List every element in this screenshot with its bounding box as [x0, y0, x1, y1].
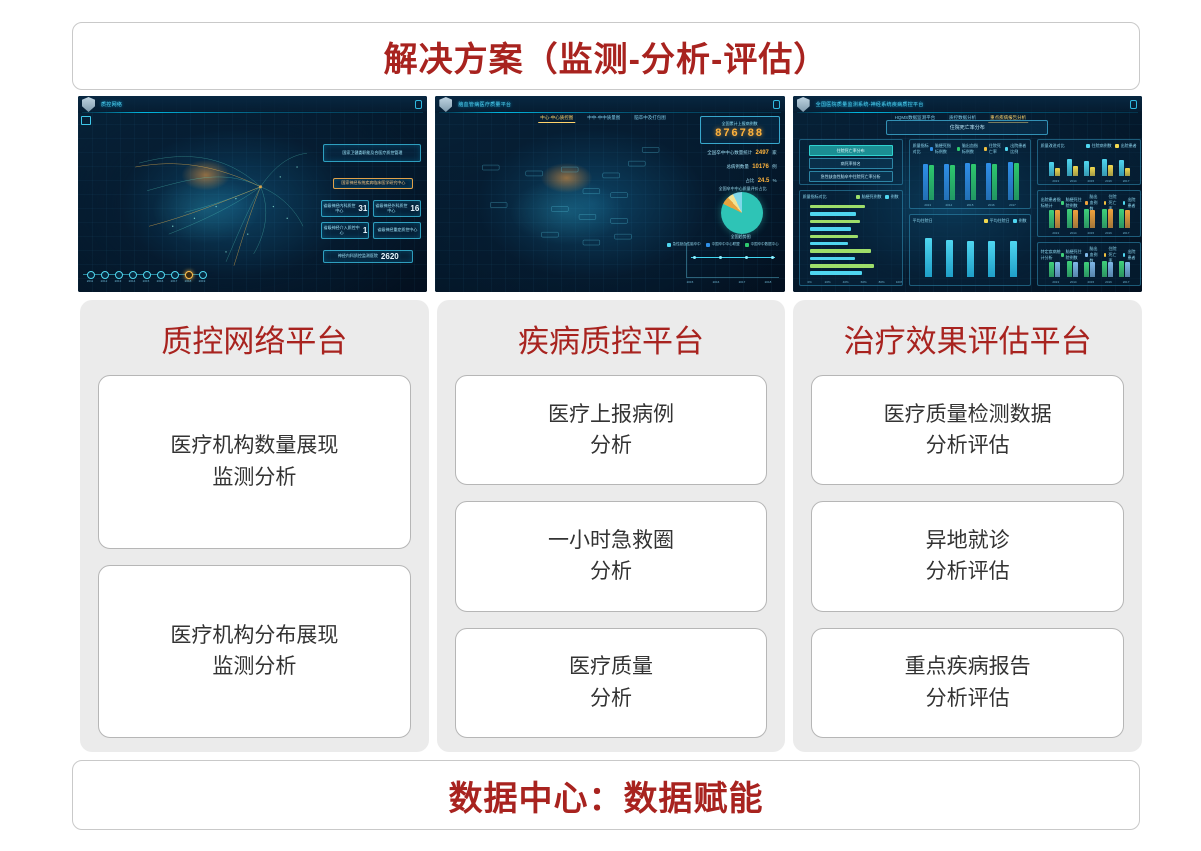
stat-value: 24.5	[758, 178, 770, 184]
card-text: 医疗机构数量展现监测分析	[170, 430, 338, 493]
dashboard-treatment-evaluation[interactable]: 全国医院质量监测系统-神经系统疾病质控平台 HQMS数据监测平台质控数据分析重点…	[793, 96, 1142, 292]
bar-group	[1049, 154, 1060, 176]
shield-logo-icon	[797, 97, 810, 112]
axis-tick-label: 60%	[861, 280, 867, 284]
axis-tick-label: 2017	[1123, 179, 1130, 183]
stat-label: 总病例数量	[726, 164, 749, 169]
topbar-rule	[797, 112, 1138, 113]
horizontal-bar	[810, 227, 852, 231]
bar-group	[1102, 257, 1113, 277]
horizontal-bar	[810, 242, 848, 246]
bar	[1084, 161, 1089, 176]
single-bars	[918, 229, 1024, 277]
stat-value: 1	[363, 226, 367, 236]
panel-title-text: 质量指标对比	[803, 194, 827, 200]
horizontal-bar	[810, 271, 862, 275]
platform-column-1: 疾病质控平台医疗上报病例分析一小时急救圈分析医疗质量分析	[437, 300, 786, 752]
axis-tick-label: 100%	[896, 280, 903, 284]
panel-legend: 平均住院日例数	[984, 218, 1027, 224]
bar-group	[988, 229, 995, 277]
axis-tick-label: 2016	[1105, 179, 1112, 183]
horizontal-bar	[810, 249, 871, 253]
card-text: 异地就诊分析评估	[926, 525, 1010, 588]
dashboard-screenshot-strip: 质控网络	[78, 96, 1142, 292]
legend-swatch	[885, 195, 889, 199]
legend-swatch	[1013, 219, 1017, 223]
timeline-point[interactable]	[185, 271, 193, 279]
card-line-2: 分析	[548, 556, 674, 588]
bar-group	[965, 154, 976, 200]
card-text: 医疗质量分析	[569, 651, 653, 714]
panel-legend: 脑梗死例数例数	[856, 194, 899, 200]
card-list: 医疗机构数量展现监测分析医疗机构分布展现监测分析	[98, 375, 411, 738]
timeline-point[interactable]	[171, 271, 179, 279]
grouped-bars	[1046, 205, 1134, 228]
line-series	[691, 257, 775, 258]
axis-tick-label: 2015	[687, 280, 694, 284]
stat-label: 占比	[745, 178, 754, 183]
bar-group	[1119, 154, 1130, 176]
feature-card[interactable]: 一小时急救圈分析	[455, 501, 768, 611]
axis-tick-label: 2016	[1105, 280, 1112, 284]
axis-tick-label: 2018	[765, 280, 772, 284]
panel-title: 质量指标对比 脑梗死例数例数	[803, 194, 899, 200]
card-text: 医疗上报病例分析	[548, 399, 674, 462]
stat-label: 省级神经内科质控中心	[323, 204, 355, 214]
stat-label: 省级神经外科质控中心	[375, 204, 407, 214]
card-line-1: 异地就诊	[926, 525, 1010, 557]
legend-item: 住院病例数	[1086, 143, 1112, 149]
dashboard-title: 全国医院质量监测系统-神经系统疾病质控平台	[816, 101, 924, 108]
bar	[944, 164, 949, 200]
bar	[986, 163, 991, 200]
axis-tick-label: 2014	[1070, 231, 1077, 235]
bar	[923, 164, 928, 200]
bar	[1125, 262, 1130, 277]
timeline-label: 2012	[101, 279, 108, 283]
axis-tick-label: 2015	[967, 203, 974, 207]
stat-label: 全国卒中中心数量统计	[707, 150, 752, 155]
axis-tick-label: 2016	[713, 280, 720, 284]
axis-tick-label: 40%	[843, 280, 849, 284]
stat-panel-2: 省级神经介入质控中心 1	[321, 222, 369, 239]
legend-item: 出院患者	[1115, 143, 1137, 149]
platform-columns: 质控网络平台医疗机构数量展现监测分析医疗机构分布展现监测分析疾病质控平台医疗上报…	[80, 300, 1142, 752]
stat-panel-3: 省级神经重症质控中心	[373, 222, 421, 239]
axis-tick-label: 2015	[1088, 280, 1095, 284]
bar	[1102, 261, 1107, 277]
feature-card[interactable]: 医疗质量检测数据分析评估	[811, 375, 1124, 485]
legend-swatch	[667, 243, 671, 247]
total-cases-value: 876788	[715, 127, 764, 139]
line-point	[719, 256, 722, 259]
timeline-point[interactable]	[115, 271, 123, 279]
card-line-2: 分析评估	[926, 556, 1010, 588]
chart-panel-3: 出院患者指标统计 脑梗死住院例数脑出血例数住院死亡率出院患者 201320142…	[1037, 190, 1141, 237]
axis-tick-label: 2013	[1052, 280, 1059, 284]
card-text: 医疗质量检测数据分析评估	[884, 399, 1052, 462]
timeline-point[interactable]	[101, 271, 109, 279]
bar-group	[986, 154, 997, 200]
legend-item: 平均住院日	[984, 218, 1010, 224]
bar-group	[1102, 205, 1113, 228]
bar	[967, 241, 974, 277]
bar	[1102, 159, 1107, 176]
axis-tick-label: 2013	[1052, 179, 1059, 183]
bar	[1090, 167, 1095, 176]
footer-stat-panel: 神经内科质控监测医院 2620	[323, 250, 413, 263]
feature-card[interactable]: 医疗机构数量展现监测分析	[98, 375, 411, 549]
bar	[1067, 159, 1072, 176]
total-cases-card: 全国累计上报病例数 876788	[700, 116, 780, 144]
timeline-point[interactable]	[199, 271, 207, 279]
research-center-panel: 国家神经系统疾病临床医学研究中心	[333, 178, 413, 189]
dashboard-quality-control-network[interactable]: 质控网络	[78, 96, 427, 292]
legend-swatch	[1005, 147, 1008, 151]
bar	[1073, 166, 1078, 176]
legend-label: 平均住院日	[990, 218, 1010, 224]
timeline-label: 2018	[185, 279, 192, 283]
bar-group	[1102, 154, 1113, 176]
highlight-panel: 国家卫健委职能及合医疗质控管理	[323, 144, 421, 162]
legend-swatch	[1115, 144, 1119, 148]
horizontal-bar	[810, 257, 855, 261]
stat-panel-1: 省级神经外科质控中心 16	[373, 200, 421, 217]
card-text: 一小时急救圈分析	[548, 525, 674, 588]
feature-card[interactable]: 重点疾病报告分析评估	[811, 628, 1124, 738]
filter-button[interactable]: 急性缺血性脑卒中住院死亡率分析	[809, 171, 893, 182]
bar	[1014, 163, 1019, 200]
timeline-label: 2016	[157, 279, 164, 283]
bar-group	[925, 229, 932, 277]
bar	[950, 165, 955, 200]
bar-group	[923, 154, 934, 200]
axis-tick-label: 2016	[1105, 231, 1112, 235]
stat-unit: 家	[772, 150, 777, 155]
card-line-1: 重点疾病报告	[905, 651, 1031, 683]
axis-tick-label: 2015	[1088, 231, 1095, 235]
timeline-label: 2015	[143, 279, 150, 283]
feature-card[interactable]: 医疗机构分布展现监测分析	[98, 565, 411, 739]
bar	[1055, 168, 1060, 176]
chart-panel-4: 特定疾病统计分析 脑梗死住院例数脑出血例数住院死亡率出院患者 201320142…	[1037, 242, 1141, 286]
stat-line-2: 占比 24.5 %	[745, 178, 776, 184]
horizontal-bar	[810, 264, 874, 268]
section-pill-title: 住院死亡率分布	[886, 120, 1048, 135]
bar	[1125, 210, 1130, 228]
column-title: 质控网络平台	[98, 316, 411, 361]
feature-card[interactable]: 异地就诊分析评估	[811, 501, 1124, 611]
bar-group	[1049, 205, 1060, 228]
platform-column-2: 治疗效果评估平台医疗质量检测数据分析评估异地就诊分析评估重点疾病报告分析评估	[793, 300, 1142, 752]
bar	[1119, 261, 1124, 277]
bar	[1084, 209, 1089, 228]
footer-banner: 数据中心：数据赋能	[72, 760, 1140, 830]
timeline-point[interactable]	[129, 271, 137, 279]
horizontal-bars	[810, 203, 896, 277]
line-point	[771, 256, 774, 259]
card-list: 医疗质量检测数据分析评估异地就诊分析评估重点疾病报告分析评估	[811, 375, 1124, 738]
bar	[1119, 209, 1124, 228]
timeline-label: 2014	[129, 279, 136, 283]
horizontal-bar	[810, 220, 861, 224]
bar	[1102, 209, 1107, 228]
bar	[1073, 262, 1078, 277]
legend-label: 住院病例数	[1092, 143, 1112, 149]
legend-swatch	[984, 219, 988, 223]
timeline-label: 2011	[87, 279, 93, 283]
line-point	[745, 256, 748, 259]
stat-value: 2497	[756, 150, 769, 156]
bar-group	[1067, 154, 1078, 176]
axis-tick-label: 2017	[1009, 203, 1016, 207]
line-chart	[686, 243, 779, 278]
status-indicator-icon	[1130, 100, 1137, 109]
chart-panel-1: 平均住院日 平均住院日例数	[909, 214, 1031, 286]
bar	[1108, 165, 1113, 176]
axis-tick-label: 2017	[1123, 280, 1130, 284]
bar	[929, 165, 934, 200]
legend-swatch	[1086, 144, 1090, 148]
axis-tick-label: 20%	[825, 280, 831, 284]
axis-tick-label: 80%	[879, 280, 885, 284]
bar-group	[1067, 205, 1078, 228]
line-point	[693, 256, 696, 259]
card-text: 医疗机构分布展现监测分析	[170, 620, 338, 683]
card-line-1: 医疗上报病例	[548, 399, 674, 431]
bar	[1090, 262, 1095, 277]
feature-card[interactable]: 医疗上报病例分析	[455, 375, 768, 485]
timeline-point[interactable]	[87, 271, 95, 279]
side-bar-chart-panel: 质量指标对比 脑梗死例数例数 0%20%40%60%80%100%	[799, 190, 903, 286]
bar	[971, 164, 976, 200]
bar-group	[1119, 205, 1130, 228]
horizontal-bar	[810, 205, 865, 209]
card-line-1: 医疗质量	[569, 651, 653, 683]
legend-swatch	[930, 147, 933, 151]
stat-unit: %	[773, 178, 777, 183]
filter-button-panel[interactable]: 住院死亡率分布病死率排名急性缺血性脑卒中住院死亡率分析	[799, 139, 903, 185]
horizontal-bar	[810, 212, 857, 216]
stat-line-1: 总病例数量 10176 例	[726, 164, 776, 170]
dashboard-disease-quality-control[interactable]: 脑血管病医疗质量平台 中心-中心质控图中中-中中质量图脑卒中及打包图	[435, 96, 784, 292]
year-timeline[interactable]: 201120122013201420152016201720182019	[83, 265, 203, 287]
card-line-1: 医疗机构分布展现	[170, 620, 338, 652]
timeline-point[interactable]	[157, 271, 165, 279]
legend-swatch	[856, 195, 860, 199]
bar-group	[967, 229, 974, 277]
filter-button[interactable]: 住院死亡率分布	[809, 145, 893, 156]
bar	[1008, 162, 1013, 200]
bar-group	[1084, 257, 1095, 277]
card-line-2: 分析	[569, 683, 653, 715]
panel-title-text: 平均住院日	[913, 218, 933, 224]
legend-swatch	[957, 147, 960, 151]
axis-tick-label: 2015	[1088, 179, 1095, 183]
bar-group	[1049, 257, 1060, 277]
bar	[1010, 241, 1017, 277]
pie-chart	[721, 192, 763, 234]
axis-tick-label: 2014	[946, 203, 953, 207]
axis-tick-label: 2013	[1052, 231, 1059, 235]
timeline-label: 2019	[199, 279, 206, 283]
axis-tick-label: 2014	[1070, 280, 1077, 284]
card-line-2: 分析评估	[905, 683, 1031, 715]
axis-tick-label: 2014	[1070, 179, 1077, 183]
bar-group	[946, 229, 953, 277]
footer-stat-label: 神经内科质控监测医院	[338, 254, 378, 259]
bar	[992, 164, 997, 200]
grouped-bars	[918, 154, 1024, 200]
bar	[1108, 262, 1113, 277]
bar	[1049, 210, 1054, 228]
bar	[988, 241, 995, 277]
bar	[1067, 261, 1072, 277]
filter-button[interactable]: 病死率排名	[809, 158, 893, 169]
bar	[1125, 168, 1130, 176]
legend-swatch	[984, 147, 987, 151]
bar-group	[944, 154, 955, 200]
stat-value: 31	[358, 204, 367, 214]
timeline-label: 2013	[115, 279, 122, 283]
stat-unit: 例	[772, 164, 777, 169]
stat-line-0: 全国卒中中心数量统计 2497 家	[707, 150, 776, 156]
axis-tick-label: 2017	[1123, 231, 1130, 235]
card-line-2: 监测分析	[170, 462, 338, 494]
footer-title: 数据中心：数据赋能	[449, 771, 764, 820]
bar	[1049, 162, 1054, 176]
axis-tick-label: 2016	[988, 203, 995, 207]
chart-panel-0: 质量指标对比 脑梗死指标例数脑出血指标例数住院死亡率出院患者比例 2013201…	[909, 139, 1031, 209]
bar	[1108, 209, 1113, 228]
bar-group	[1084, 205, 1095, 228]
stat-value: 10176	[752, 164, 769, 170]
line-chart-title: 全国趋势图	[731, 234, 751, 240]
bar	[1090, 210, 1095, 228]
bar-group	[1010, 229, 1017, 277]
bar	[1055, 210, 1060, 228]
column-title: 疾病质控平台	[455, 316, 768, 361]
bar-group	[1084, 154, 1095, 176]
page-title: 解决方案（监测-分析-评估）	[384, 32, 829, 81]
card-line-2: 分析	[548, 430, 674, 462]
panel-title-text: 质量改进对比	[1041, 143, 1065, 149]
bar	[925, 238, 932, 277]
card-line-2: 分析评估	[884, 430, 1052, 462]
platform-column-0: 质控网络平台医疗机构数量展现监测分析医疗机构分布展现监测分析	[80, 300, 429, 752]
legend-item: 脑梗死例数	[856, 194, 882, 200]
stat-label: 省级神经介入质控中心	[323, 226, 360, 236]
card-line-1: 医疗机构数量展现	[170, 430, 338, 462]
column-title: 治疗效果评估平台	[811, 316, 1124, 361]
timeline-label: 2017	[171, 279, 178, 283]
panel-legend: 住院病例数出院患者	[1086, 143, 1137, 149]
bar	[1055, 262, 1060, 277]
timeline-point[interactable]	[143, 271, 151, 279]
axis-tick-label: 2013	[924, 203, 931, 207]
footer-stat-value: 2620	[381, 252, 399, 262]
stat-value: 16	[410, 204, 419, 214]
bar-group	[1067, 257, 1078, 277]
axis-tick-label: 0%	[807, 280, 811, 284]
horizontal-bar	[810, 235, 859, 239]
legend-label: 脑梗死例数	[862, 194, 882, 200]
card-line-1: 一小时急救圈	[548, 525, 674, 557]
bar	[1073, 210, 1078, 228]
bar	[946, 240, 953, 277]
bar	[1119, 160, 1124, 176]
axis-tick-label: 2017	[739, 280, 746, 284]
dashboard-topbar: 全国医院质量监测系统-神经系统疾病质控平台	[793, 96, 1142, 113]
feature-card[interactable]: 医疗质量分析	[455, 628, 768, 738]
chart-panel-2: 质量改进对比 住院病例数出院患者 20132014201520162017	[1037, 139, 1141, 185]
bar-group	[1119, 257, 1130, 277]
stat-panel-0: 省级神经内科质控中心 31	[321, 200, 369, 217]
card-text: 重点疾病报告分析评估	[905, 651, 1031, 714]
card-line-2: 监测分析	[170, 651, 338, 683]
bar	[1049, 262, 1054, 277]
bar	[1084, 262, 1089, 277]
solution-architecture-page: 解决方案（监测-分析-评估） 质控网络	[0, 0, 1201, 851]
stat-label: 省级神经重症质控中心	[377, 228, 417, 233]
header-banner: 解决方案（监测-分析-评估）	[72, 22, 1140, 90]
card-line-1: 医疗质量检测数据	[884, 399, 1052, 431]
bar-group	[1008, 154, 1019, 200]
grouped-bars	[1046, 154, 1134, 176]
bar	[965, 163, 970, 200]
grouped-bars	[1046, 257, 1134, 277]
bar	[1067, 209, 1072, 228]
card-list: 医疗上报病例分析一小时急救圈分析医疗质量分析	[455, 375, 768, 738]
